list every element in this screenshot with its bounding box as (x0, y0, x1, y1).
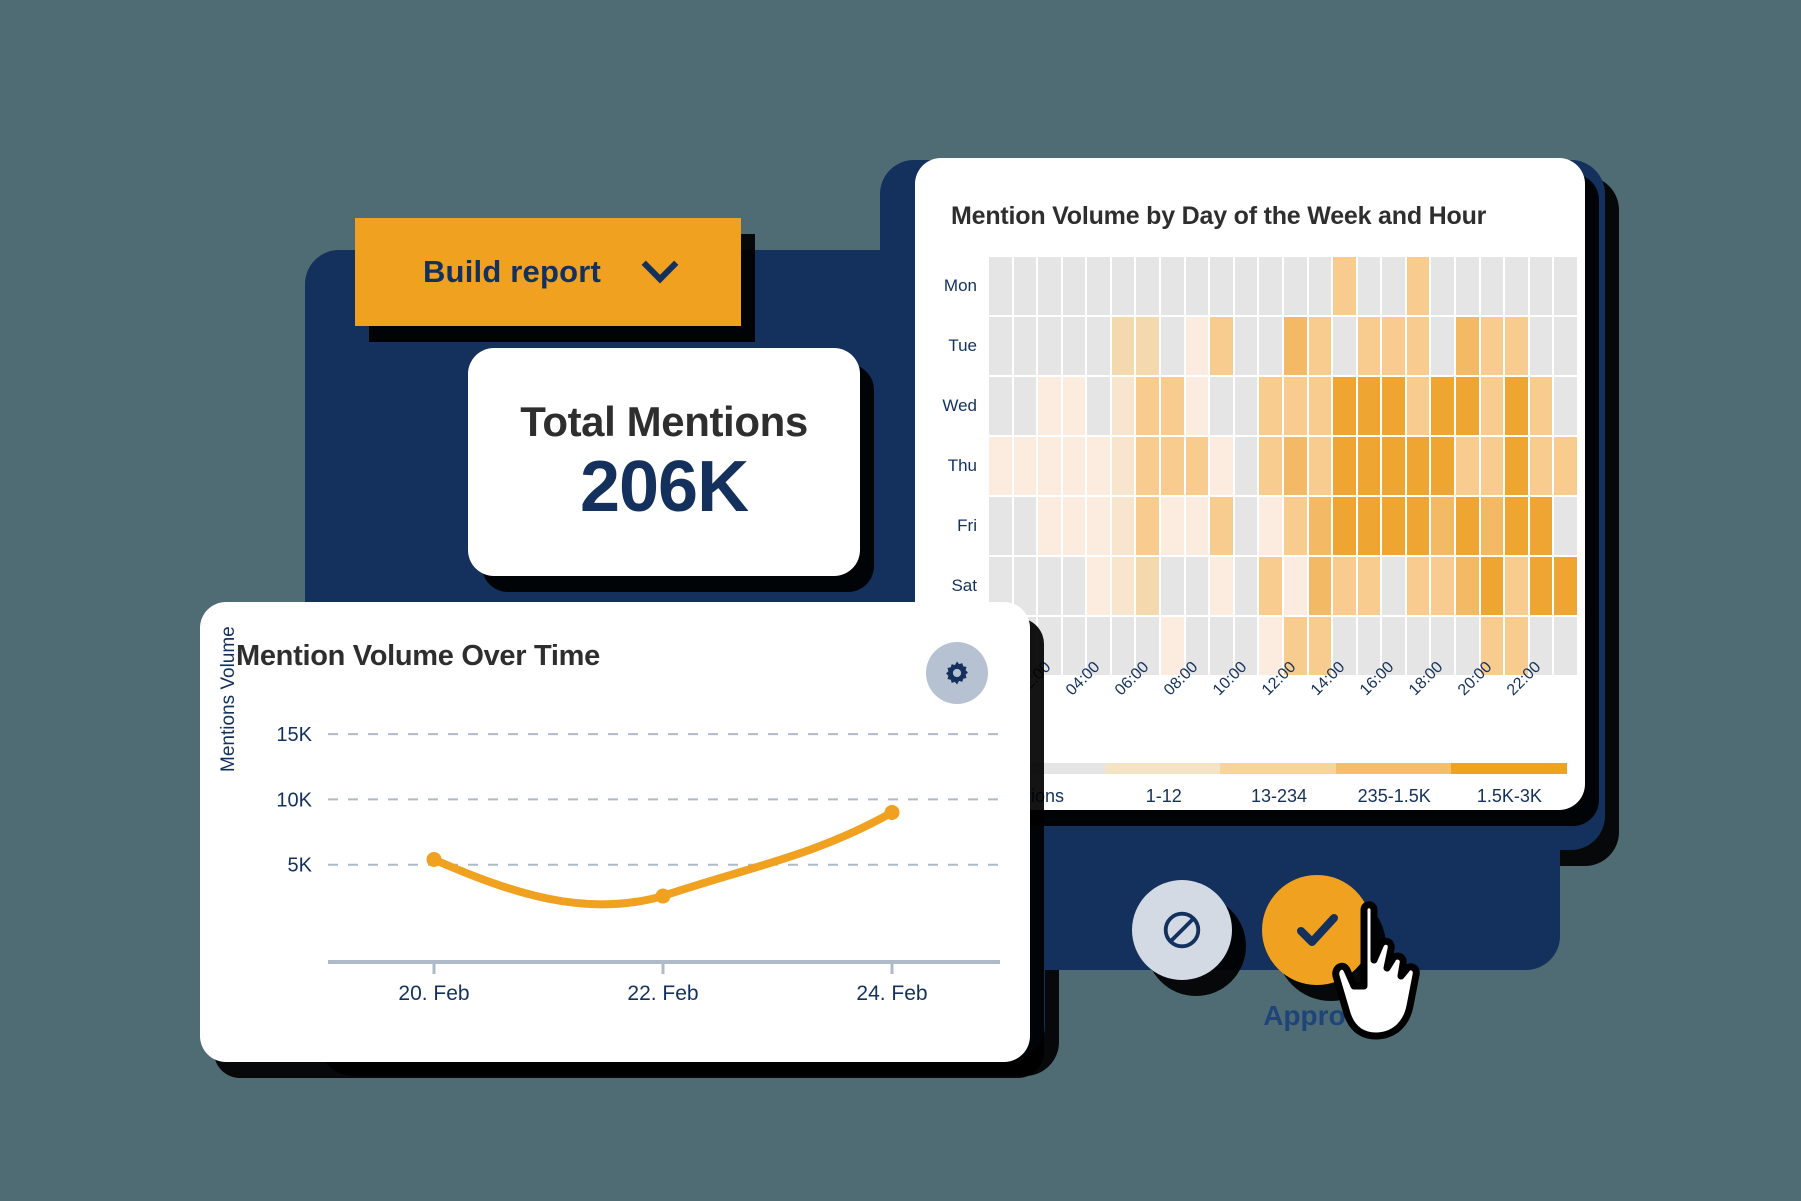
heatmap-cell[interactable] (1259, 497, 1282, 555)
heatmap-cell[interactable] (1112, 257, 1135, 315)
heatmap-cell[interactable] (1431, 377, 1454, 435)
heatmap-cell[interactable] (1505, 257, 1528, 315)
heatmap-cell[interactable] (989, 437, 1012, 495)
heatmap-cell[interactable] (1112, 317, 1135, 375)
heatmap-legend-swatch (1105, 763, 1221, 774)
heatmap-cell[interactable] (1407, 557, 1430, 615)
heatmap-x-tick: 12:00 (1259, 677, 1284, 763)
heatmap-x-tick (1087, 677, 1112, 763)
heatmap-cell[interactable] (1259, 317, 1282, 375)
heatmap-x-tick: 18:00 (1406, 677, 1431, 763)
heatmap-cell[interactable] (1014, 437, 1037, 495)
heatmap-cell[interactable] (1186, 257, 1209, 315)
heatmap-cell[interactable] (1431, 437, 1454, 495)
heatmap-cell[interactable] (1554, 557, 1577, 615)
heatmap-cell[interactable] (1431, 317, 1454, 375)
heatmap-cell[interactable] (1235, 557, 1258, 615)
heatmap-x-tick (1528, 677, 1553, 763)
screenshot-root: Build report Total Mentions 206K Mention… (0, 0, 1801, 1201)
heatmap-cell[interactable] (1136, 497, 1159, 555)
heatmap-cell[interactable] (1382, 497, 1405, 555)
heatmap-cell[interactable] (1087, 257, 1110, 315)
heatmap-cell[interactable] (1284, 317, 1307, 375)
heatmap-cell[interactable] (1161, 437, 1184, 495)
heatmap-cell[interactable] (1481, 557, 1504, 615)
heatmap-legend-labels: Mentions1-1213-234235-1.5K1.5K-3K (989, 786, 1567, 807)
heatmap-cell[interactable] (1505, 437, 1528, 495)
heatmap-cell[interactable] (1481, 317, 1504, 375)
heatmap-cell[interactable] (1014, 257, 1037, 315)
heatmap-cell[interactable] (1284, 377, 1307, 435)
line-chart-marker[interactable] (427, 852, 442, 867)
heatmap-cell[interactable] (1382, 317, 1405, 375)
heatmap-cell[interactable] (1112, 557, 1135, 615)
heatmap-cell[interactable] (1554, 617, 1577, 675)
heatmap-cell[interactable] (1087, 317, 1110, 375)
heatmap-cell[interactable] (1333, 257, 1356, 315)
heatmap-cell[interactable] (1358, 257, 1381, 315)
heatmap-cell[interactable] (989, 257, 1012, 315)
heatmap-cell[interactable] (1431, 497, 1454, 555)
heatmap-cell[interactable] (1038, 257, 1061, 315)
heatmap-cell[interactable] (1456, 557, 1479, 615)
heatmap-cell[interactable] (1210, 257, 1233, 315)
heatmap-row: Mon (915, 257, 1585, 315)
heatmap-x-tick (1553, 677, 1578, 763)
heatmap-cell[interactable] (1382, 437, 1405, 495)
heatmap-cell[interactable] (1358, 557, 1381, 615)
heatmap-cell[interactable] (1309, 317, 1332, 375)
heatmap-cell[interactable] (1554, 497, 1577, 555)
heatmap-cell[interactable] (1186, 377, 1209, 435)
heatmap-cell[interactable] (1014, 377, 1037, 435)
heatmap-cell[interactable] (1431, 557, 1454, 615)
heatmap-cell[interactable] (1235, 497, 1258, 555)
heatmap-cell[interactable] (1530, 557, 1553, 615)
mention-volume-over-time-card: Mention Volume Over Time Mentions Volume… (200, 602, 1030, 1062)
total-mentions-card: Total Mentions 206K (468, 348, 860, 576)
heatmap-cell[interactable] (1210, 317, 1233, 375)
heatmap-cell[interactable] (1235, 377, 1258, 435)
heatmap-cell[interactable] (1136, 317, 1159, 375)
heatmap-cell[interactable] (1309, 257, 1332, 315)
heatmap-row: Thu (915, 437, 1585, 495)
heatmap-row: Wed (915, 377, 1585, 435)
heatmap-cell[interactable] (1382, 377, 1405, 435)
heatmap-cell[interactable] (1358, 497, 1381, 555)
heatmap-cell[interactable] (1259, 437, 1282, 495)
heatmap-x-tick (1332, 677, 1357, 763)
heatmap-cell[interactable] (1259, 257, 1282, 315)
heatmap-row-label: Thu (915, 437, 989, 495)
heatmap-x-tick: 10:00 (1210, 677, 1235, 763)
heatmap-cell[interactable] (1456, 437, 1479, 495)
heatmap-x-tick (1430, 677, 1455, 763)
build-report-button[interactable]: Build report (355, 218, 741, 326)
heatmap-cell[interactable] (1407, 317, 1430, 375)
line-chart-x-tick-label: 24. Feb (856, 982, 927, 1005)
reject-button[interactable] (1132, 880, 1232, 980)
heatmap-cell[interactable] (1038, 497, 1061, 555)
heatmap-row-label: Wed (915, 377, 989, 435)
heatmap-cell[interactable] (1210, 497, 1233, 555)
heatmap-cell[interactable] (989, 377, 1012, 435)
heatmap-cell[interactable] (1554, 257, 1577, 315)
heatmap-cell[interactable] (1333, 377, 1356, 435)
heatmap-row-label: Tue (915, 317, 989, 375)
heatmap-row-cells (989, 257, 1585, 315)
heatmap-x-tick: 22:00 (1504, 677, 1529, 763)
heatmap-cell[interactable] (1309, 557, 1332, 615)
heatmap-cell[interactable] (1038, 437, 1061, 495)
heatmap-cell[interactable] (1284, 437, 1307, 495)
build-report-label: Build report (423, 254, 601, 290)
heatmap-cell[interactable] (1333, 317, 1356, 375)
heatmap-row-label: Fri (915, 497, 989, 555)
heatmap-cell[interactable] (1481, 497, 1504, 555)
heatmap-cell[interactable] (1554, 437, 1577, 495)
heatmap-cell[interactable] (1235, 257, 1258, 315)
total-mentions-title: Total Mentions (520, 398, 808, 446)
heatmap-x-tick (1185, 677, 1210, 763)
block-icon (1159, 907, 1205, 953)
line-chart-title: Mention Volume Over Time (236, 640, 1030, 673)
line-chart-y-tick-label: 5K (288, 855, 313, 877)
line-chart-marker[interactable] (885, 805, 900, 820)
heatmap-cell[interactable] (1309, 377, 1332, 435)
heatmap-legend-label: 13-234 (1221, 786, 1336, 807)
heatmap-cell[interactable] (1112, 377, 1135, 435)
heatmap-cell[interactable] (1333, 497, 1356, 555)
heatmap-title: Mention Volume by Day of the Week and Ho… (951, 202, 1585, 231)
heatmap-cell[interactable] (1038, 317, 1061, 375)
heatmap-cell[interactable] (1161, 257, 1184, 315)
heatmap-cell[interactable] (1063, 317, 1086, 375)
heatmap-x-tick (1038, 677, 1063, 763)
heatmap-legend-swatch (1451, 763, 1567, 774)
heatmap-cell[interactable] (1161, 497, 1184, 555)
heatmap-row-label: Mon (915, 257, 989, 315)
heatmap-cell[interactable] (1186, 317, 1209, 375)
heatmap-cell[interactable] (1505, 557, 1528, 615)
gear-glyph (941, 657, 973, 689)
heatmap-cell[interactable] (1038, 377, 1061, 435)
heatmap-x-tick: 20:00 (1455, 677, 1480, 763)
heatmap-x-tick: 06:00 (1112, 677, 1137, 763)
heatmap-cell[interactable] (989, 497, 1012, 555)
heatmap-cell[interactable] (1333, 437, 1356, 495)
heatmap-cell[interactable] (1014, 497, 1037, 555)
heatmap-x-tick: 08:00 (1161, 677, 1186, 763)
heatmap-legend-swatch (1336, 763, 1452, 774)
heatmap-cell[interactable] (1481, 257, 1504, 315)
heatmap-cell[interactable] (1161, 557, 1184, 615)
heatmap-legend: Mentions1-1213-234235-1.5K1.5K-3K (989, 763, 1585, 807)
heatmap-cell[interactable] (1063, 437, 1086, 495)
chevron-down-icon (642, 247, 679, 284)
heatmap-row: Fri (915, 497, 1585, 555)
heatmap-x-tick: 04:00 (1063, 677, 1088, 763)
heatmap-cell[interactable] (1530, 317, 1553, 375)
heatmap-legend-label: 1-12 (1106, 786, 1221, 807)
heatmap-cell[interactable] (1112, 497, 1135, 555)
heatmap-cell[interactable] (1530, 497, 1553, 555)
heatmap-cell[interactable] (1063, 557, 1086, 615)
heatmap-cell[interactable] (1284, 557, 1307, 615)
heatmap-cell[interactable] (1259, 557, 1282, 615)
line-chart-y-tick-label: 10K (276, 789, 312, 811)
heatmap-cell[interactable] (1382, 557, 1405, 615)
heatmap-legend-bar (989, 763, 1567, 774)
heatmap-cell[interactable] (1530, 377, 1553, 435)
heatmap-cell[interactable] (1112, 437, 1135, 495)
heatmap-cell[interactable] (1063, 257, 1086, 315)
heatmap-cell[interactable] (1505, 317, 1528, 375)
heatmap-cell[interactable] (1284, 257, 1307, 315)
heatmap-cell[interactable] (1407, 497, 1430, 555)
heatmap-legend-swatch (1220, 763, 1336, 774)
heatmap-cell[interactable] (1210, 377, 1233, 435)
heatmap-cell[interactable] (1358, 437, 1381, 495)
heatmap-row-cells (989, 437, 1585, 495)
heatmap-cell[interactable] (1136, 437, 1159, 495)
heatmap-cell[interactable] (1456, 497, 1479, 555)
heatmap-cell[interactable] (1309, 497, 1332, 555)
heatmap-cell[interactable] (1456, 317, 1479, 375)
heatmap-legend-label: 235-1.5K (1337, 786, 1452, 807)
heatmap-cell[interactable] (1505, 377, 1528, 435)
heatmap-cell[interactable] (1505, 497, 1528, 555)
heatmap-cell[interactable] (1161, 377, 1184, 435)
heatmap-cell[interactable] (1309, 437, 1332, 495)
heatmap-cell[interactable] (1136, 557, 1159, 615)
heatmap-cell[interactable] (1358, 317, 1381, 375)
heatmap-cell[interactable] (1087, 377, 1110, 435)
heatmap-row-cells (989, 377, 1585, 435)
heatmap-cell[interactable] (1554, 377, 1577, 435)
total-mentions-value: 206K (580, 450, 748, 526)
heatmap-x-tick (1234, 677, 1259, 763)
heatmap-cell[interactable] (1063, 377, 1086, 435)
heatmap-legend-label: 1.5K-3K (1452, 786, 1567, 807)
heatmap-cell[interactable] (1481, 377, 1504, 435)
heatmap-x-tick: 16:00 (1357, 677, 1382, 763)
heatmap-cell[interactable] (1210, 437, 1233, 495)
heatmap-cell[interactable] (1087, 557, 1110, 615)
heatmap-x-tick (1136, 677, 1161, 763)
heatmap-x-tick: 14:00 (1308, 677, 1333, 763)
heatmap-cell[interactable] (1456, 377, 1479, 435)
heatmap-cell[interactable] (1161, 317, 1184, 375)
heatmap-cell[interactable] (1186, 437, 1209, 495)
heatmap-cell[interactable] (1087, 497, 1110, 555)
heatmap-cell[interactable] (1186, 497, 1209, 555)
line-chart-x-tick-label: 20. Feb (398, 982, 469, 1005)
heatmap-cell[interactable] (1407, 437, 1430, 495)
line-chart-y-tick-label: 15K (276, 724, 312, 746)
heatmap-cell[interactable] (1481, 437, 1504, 495)
heatmap-cell[interactable] (1136, 257, 1159, 315)
heatmap-cell[interactable] (1210, 557, 1233, 615)
line-chart-marker[interactable] (656, 889, 671, 904)
heatmap-cell[interactable] (1087, 437, 1110, 495)
heatmap-cell[interactable] (1136, 377, 1159, 435)
heatmap-cell[interactable] (1186, 557, 1209, 615)
heatmap-cell[interactable] (1038, 557, 1061, 615)
heatmap-cell[interactable] (1235, 317, 1258, 375)
heatmap-x-tick (1381, 677, 1406, 763)
heatmap-cell[interactable] (1284, 497, 1307, 555)
heatmap-row-cells (989, 497, 1585, 555)
heatmap-cell[interactable] (1431, 257, 1454, 315)
heatmap-cell[interactable] (1554, 317, 1577, 375)
heatmap-x-tick (1283, 677, 1308, 763)
heatmap-cell[interactable] (1259, 377, 1282, 435)
heatmap-cell[interactable] (1530, 257, 1553, 315)
heatmap-cell[interactable] (1358, 377, 1381, 435)
heatmap-row-cells (989, 317, 1585, 375)
line-chart-x-tick-label: 22. Feb (627, 982, 698, 1005)
heatmap-x-axis: 02:0004:0006:0008:0010:0012:0014:0016:00… (989, 677, 1585, 763)
heatmap-cell[interactable] (1456, 257, 1479, 315)
heatmap-cell[interactable] (989, 317, 1012, 375)
heatmap-cell[interactable] (1333, 557, 1356, 615)
heatmap-row: Tue (915, 317, 1585, 375)
heatmap-cell[interactable] (1014, 317, 1037, 375)
heatmap-cell[interactable] (1530, 437, 1553, 495)
heatmap-cell[interactable] (1407, 257, 1430, 315)
heatmap-row-cells (989, 557, 1585, 615)
line-chart-plot: 5K10K15K20. Feb22. Feb24. Feb (200, 690, 1030, 1020)
heatmap-cell[interactable] (1407, 377, 1430, 435)
heatmap-cell[interactable] (1063, 497, 1086, 555)
heatmap-x-tick (1479, 677, 1504, 763)
heatmap-cell[interactable] (1235, 437, 1258, 495)
pointing-hand-cursor (1330, 898, 1450, 1048)
heatmap-cell[interactable] (1382, 257, 1405, 315)
